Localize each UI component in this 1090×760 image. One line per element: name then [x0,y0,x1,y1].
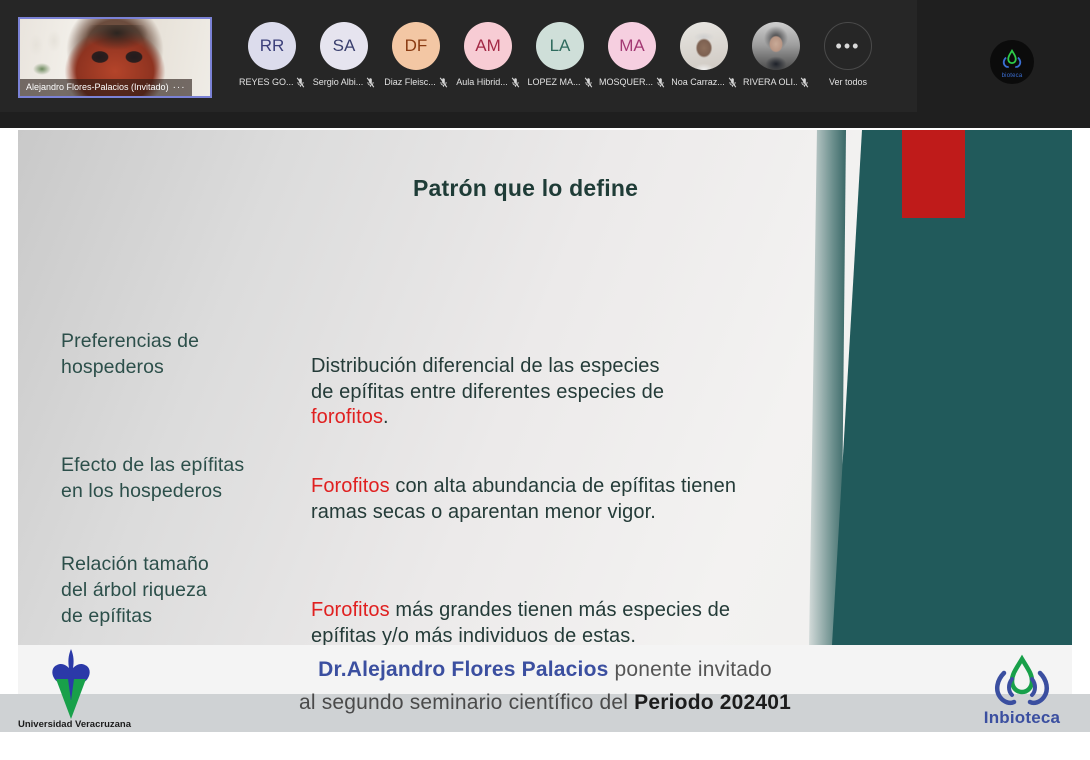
participant-name: REYES GO... [239,77,293,88]
participant-tile[interactable]: SA Sergio Albi... [308,22,380,88]
participant-filmstrip: Alejandro Flores-Palacios (Invitado) ···… [0,0,1090,128]
banner-line-1: Dr.Alejandro Flores Palacios ponente inv… [0,653,1090,686]
speaker-name: Dr.Alejandro Flores Palacios [318,658,608,681]
mic-muted-icon [728,77,737,88]
participant-name: Aula Hibrid... [456,77,508,88]
university-caption: Universidad Veracruzana [18,719,131,730]
participant-name: MOSQUER... [599,77,653,88]
row1-body-line2: de epífitas entre diferentes especies de [311,380,664,406]
mic-muted-icon [800,77,809,88]
participant-tile[interactable]: Noa Carraz... [668,22,740,88]
participant-label-row: LOPEZ MA... [527,77,592,88]
view-all-label: Ver todos [829,77,867,88]
avatar [752,22,800,70]
row1-body-period: . [383,406,389,428]
slide-row-label-1: Preferencias de hospederos [61,328,199,380]
mic-muted-icon [439,77,448,88]
avatar: LA [536,22,584,70]
slide-row-label-2: Efecto de las epífitas en los hospederos [61,452,244,504]
self-video-tile[interactable]: Alejandro Flores-Palacios (Invitado) ··· [18,17,212,98]
row3-body-rest: más grandes tienen más especies de [390,599,730,621]
participant-label-row: RIVERA OLI... [743,77,809,88]
slide-row-body-2: Forofitos con alta abundancia de epífita… [311,474,736,525]
badge-label: bioteca [990,73,1034,79]
self-name-bar: Alejandro Flores-Palacios (Invitado) ··· [20,79,192,96]
row1-label-line2: hospederos [61,354,199,380]
row1-body-line1: Distribución diferencial de las especies [311,354,664,380]
row3-label-line1: Relación tamaño [61,551,209,577]
inbioteca-wordmark: Inbioteca [976,708,1068,728]
slide-row-label-3: Relación tamaño del árbol riqueza de epí… [61,551,209,629]
participant-name: LOPEZ MA... [527,77,580,88]
speaker-role: ponente invitado [609,658,772,681]
participant-list: RR REYES GO... SA Sergio Albi... [236,22,884,88]
self-name-label: Alejandro Flores-Palacios (Invitado) [26,79,169,96]
participant-name: RIVERA OLI... [743,77,797,88]
banner-line-2: al segundo seminario científico del Peri… [0,686,1090,719]
mic-muted-icon [511,77,520,88]
avatar: DF [392,22,440,70]
row1-highlight-term: forofitos [311,406,383,428]
participant-label-row: Noa Carraz... [671,77,737,88]
row2-label-line1: Efecto de las epífitas [61,452,244,478]
mic-muted-icon [584,77,593,88]
row2-body-line2: ramas secas o aparentan menor vigor. [311,500,736,526]
participant-label-row: MOSQUER... [599,77,665,88]
participant-label-row: Diaz Fleisc... [384,77,448,88]
participant-tile[interactable]: AM Aula Hibrid... [452,22,524,88]
avatar: MA [608,22,656,70]
participant-name: Diaz Fleisc... [384,77,436,88]
view-all-label-row: Ver todos [829,77,867,88]
row3-label-line3: de epífitas [61,603,209,629]
avatar: SA [320,22,368,70]
row2-label-line2: en los hospederos [61,478,244,504]
shared-slide: Patrón que lo define Preferencias de hos… [18,130,1072,645]
participant-tile[interactable]: LA LOPEZ MA... [524,22,596,88]
slide-title: Patrón que lo define [413,175,638,202]
banner-text: Dr.Alejandro Flores Palacios ponente inv… [0,653,1090,719]
mic-muted-icon [296,77,305,88]
more-options-icon[interactable]: ··· [173,79,186,96]
mic-muted-icon [366,77,375,88]
row2-highlight-term: Forofitos [311,475,390,497]
slide-row-body-1: Distribución diferencial de las especies… [311,354,664,431]
participant-name: Noa Carraz... [671,77,725,88]
video-conference-screen: Alejandro Flores-Palacios (Invitado) ···… [0,0,1090,760]
slide-red-block-decor [902,130,965,218]
row1-label-line1: Preferencias de [61,328,199,354]
participant-name: Sergio Albi... [313,77,364,88]
participant-tile[interactable]: RR REYES GO... [236,22,308,88]
participant-label-row: Aula Hibrid... [456,77,520,88]
row3-label-line2: del árbol riqueza [61,577,209,603]
row2-body-line1: Forofitos con alta abundancia de epífita… [311,474,736,500]
inbioteca-badge-icon: bioteca [990,40,1034,84]
participant-label-row: Sergio Albi... [313,77,376,88]
row3-highlight-term: Forofitos [311,599,390,621]
row3-body-line1: Forofitos más grandes tienen más especie… [311,598,730,624]
participant-tile[interactable]: MA MOSQUER... [596,22,668,88]
participant-tile[interactable]: DF Diaz Fleisc... [380,22,452,88]
avatar: AM [464,22,512,70]
slide-row-body-3: Forofitos más grandes tienen más especie… [311,598,730,645]
row2-body-rest: con alta abundancia de epífitas tienen [390,475,736,497]
period-text: Periodo 202401 [634,691,791,714]
row1-body-line3: forofitos. [311,405,664,431]
participant-tile[interactable]: RIVERA OLI... [740,22,812,88]
mic-muted-icon [656,77,665,88]
seminar-text: al segundo seminario científico del [299,691,634,714]
ellipsis-icon: ••• [824,22,872,70]
bottom-banner: Dr.Alejandro Flores Palacios ponente inv… [0,645,1090,760]
avatar: RR [248,22,296,70]
view-all-button[interactable]: ••• Ver todos [812,22,884,88]
avatar [680,22,728,70]
universidad-veracruzana-logo-icon [35,647,107,721]
participant-label-row: REYES GO... [239,77,305,88]
row3-body-line2: epífitas y/o más individuos de estas. [311,624,730,646]
